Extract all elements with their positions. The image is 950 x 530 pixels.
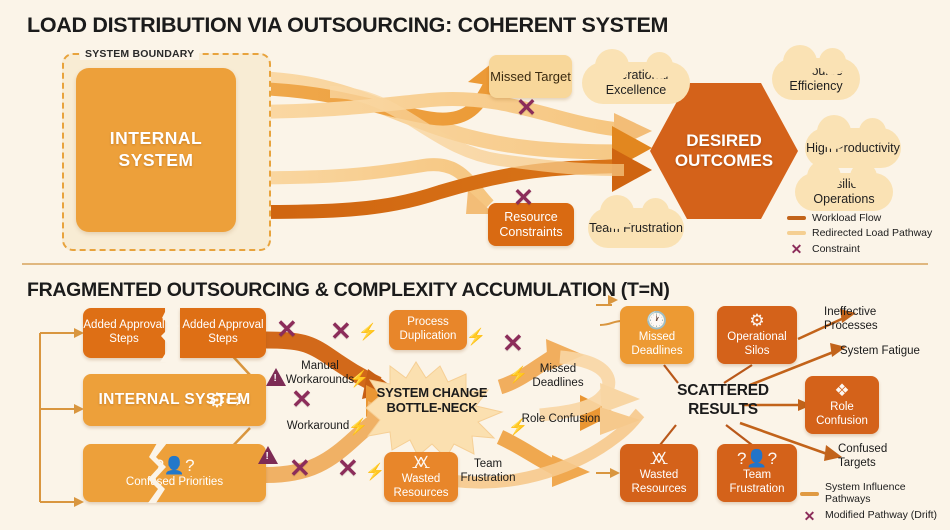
drift-label-system-fatigue: System Fatigue (840, 345, 920, 359)
node-label: Added Approval Steps (180, 319, 266, 346)
wasted-resources-icon: 🝪 (650, 450, 669, 467)
legend-label: Constraint (812, 243, 860, 255)
flow-label-role-confusion: Role Confusion (521, 413, 601, 427)
resource-constraints-label: Resource Constraints (488, 210, 574, 240)
confused-priorities-node[interactable]: ?👤? Confused Priorities (83, 444, 266, 502)
legend-item-system-influence: System Influence Pathways (800, 482, 950, 506)
cloud-label: Team Frustration (589, 221, 683, 236)
drift-x-icon: ✕ (289, 455, 311, 481)
desired-outcomes-label: DESIRED OUTCOMES (650, 131, 798, 172)
warning-icon: ! (258, 446, 278, 464)
node-label: Role Confusion (805, 401, 879, 428)
drift-x-icon: ✕ (291, 386, 313, 412)
constraint-x-icon: ✕ (513, 186, 534, 211)
process-duplication-node[interactable]: Process Duplication (389, 310, 467, 350)
torn-seam (148, 443, 174, 503)
legend-item-modified-pathway: ✕ Modified Pathway (Drift) (800, 509, 950, 523)
bottleneck-label: SYSTEM CHANGE BOTTLE-NECK (356, 385, 508, 416)
legend-line-icon (787, 231, 806, 235)
infographic-canvas: LOAD DISTRIBUTION VIA OUTSOURCING: COHER… (0, 0, 950, 530)
added-approval-steps-node-1[interactable]: Added Approval Steps (83, 308, 165, 358)
stacked-layers-icon: ❖ (834, 382, 849, 399)
node-label: Process Duplication (389, 316, 467, 343)
node-label: Operational Silos (717, 331, 797, 358)
system-boundary-label: SYSTEM BOUNDARY (80, 48, 199, 60)
flow-label-missed-deadlines: Missed Deadlines (516, 363, 600, 390)
constraint-x-icon: ✕ (516, 96, 537, 121)
cloud-operational-excellence: Operational Excellence (582, 62, 690, 104)
cloud-team-frustration: Team Frustration (588, 208, 684, 248)
legend-line-icon (787, 216, 806, 220)
torn-seam (160, 306, 186, 362)
node-label: Team Frustration (717, 469, 797, 496)
wasted-resources-icon: 🝪 (412, 454, 431, 471)
cloud-resilient-operations: Resilient Operations (795, 173, 893, 211)
drift-x-icon: ✕ (502, 330, 524, 356)
flow-label-manual-workarounds: Manual Workarounds (272, 360, 368, 387)
confused-person-icon: ?👤? (737, 450, 777, 467)
legend-label: Workload Flow (812, 212, 881, 224)
role-confusion-node[interactable]: ❖ Role Confusion (805, 376, 879, 434)
drift-x-icon: ✕ (330, 318, 352, 344)
missed-target-node[interactable]: Missed Target (489, 55, 572, 98)
drift-x-icon: ✕ (337, 455, 359, 481)
drift-label-confused-targets: Confused Targets (838, 443, 924, 470)
bolt-icon: ⚡ (466, 330, 486, 346)
flow-label-team-frustration: Team Frustration (445, 458, 531, 485)
legend-label: Modified Pathway (Drift) (825, 510, 937, 522)
bolt-icon: ⚡ (358, 325, 378, 341)
missed-target-label: Missed Target (490, 69, 571, 85)
scattered-results-label: SCATTERED RESULTS (648, 382, 798, 419)
clock-x-icon: 🕐 (646, 312, 667, 329)
node-label: Wasted Resources (620, 469, 698, 496)
legend-line-icon (800, 492, 819, 496)
legend-x-icon: ✕ (787, 242, 806, 256)
drift-x-icon: ✕ (276, 316, 298, 342)
legend-label: System Influence Pathways (825, 482, 950, 506)
cloud-label: Resilient Operations (795, 177, 893, 207)
node-label: Added Approval Steps (83, 319, 165, 346)
team-frustration-node[interactable]: ?👤? Team Frustration (717, 444, 797, 502)
node-label: Missed Deadlines (620, 331, 694, 358)
bolt-icon: ⚡ (365, 465, 385, 481)
cloud-resource-efficiency: Resource Efficiency (772, 58, 860, 100)
wasted-resources-node-right[interactable]: 🝪 Wasted Resources (620, 444, 698, 502)
gears-icon: ⚙ (749, 312, 764, 329)
drift-label-ineffective-processes: Ineffective Processes (824, 306, 920, 333)
node-label: Confused Priorities (126, 476, 223, 490)
cloud-label: Operational Excellence (582, 68, 690, 98)
flow-label-workaround: Workaround (268, 420, 368, 434)
cloud-label: High Productivity (806, 141, 900, 156)
gears-icon: ⚙⇨ (208, 388, 243, 413)
legend-item-constraint: ✕ Constraint (787, 242, 932, 256)
legend-item-workload-flow: Workload Flow (787, 212, 932, 224)
cloud-label: Resource Efficiency (772, 64, 860, 94)
legend-item-redirected-pathway: Redirected Load Pathway (787, 227, 932, 239)
added-approval-steps-node-2[interactable]: Added Approval Steps (180, 308, 266, 358)
internal-system-node-top[interactable]: INTERNAL SYSTEM (76, 68, 236, 232)
bottom-legend: System Influence Pathways ✕ Modified Pat… (800, 482, 950, 526)
missed-deadlines-node[interactable]: 🕐 Missed Deadlines (620, 306, 694, 364)
legend-x-icon: ✕ (800, 509, 819, 523)
operational-silos-node[interactable]: ⚙ Operational Silos (717, 306, 797, 364)
legend-label: Redirected Load Pathway (812, 227, 932, 239)
internal-system-label-top: INTERNAL SYSTEM (76, 128, 236, 172)
top-legend: Workload Flow Redirected Load Pathway ✕ … (787, 212, 932, 259)
